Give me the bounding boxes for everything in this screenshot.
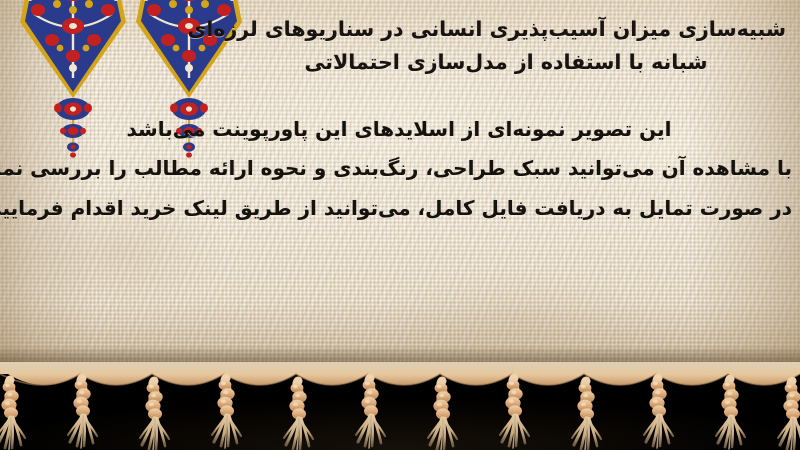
body-line-1: این تصویر نمونه‌ای از اسلایدهای این پاور… [6, 110, 792, 148]
title-line-1: شبیه‌سازی میزان آسیب‌پذیری انسانی در سنا… [226, 13, 786, 46]
body-text: این تصویر نمونه‌ای از اسلایدهای این پاور… [6, 110, 792, 228]
title-line-2: شبانه با استفاده از مدل‌سازی احتمالاتی [226, 46, 786, 79]
presentation-slide: شبیه‌سازی میزان آسیب‌پذیری انسانی در سنا… [0, 0, 800, 450]
page-title: شبیه‌سازی میزان آسیب‌پذیری انسانی در سنا… [226, 13, 786, 79]
slide-text-layer: شبیه‌سازی میزان آسیب‌پذیری انسانی در سنا… [0, 0, 800, 372]
body-line-2: با مشاهده آن می‌توانید سبک طراحی، رنگ‌بن… [6, 148, 792, 188]
body-line-3: در صورت تمایل به دریافت فایل کامل، می‌تو… [6, 188, 792, 228]
carpet-fringe [0, 362, 800, 450]
